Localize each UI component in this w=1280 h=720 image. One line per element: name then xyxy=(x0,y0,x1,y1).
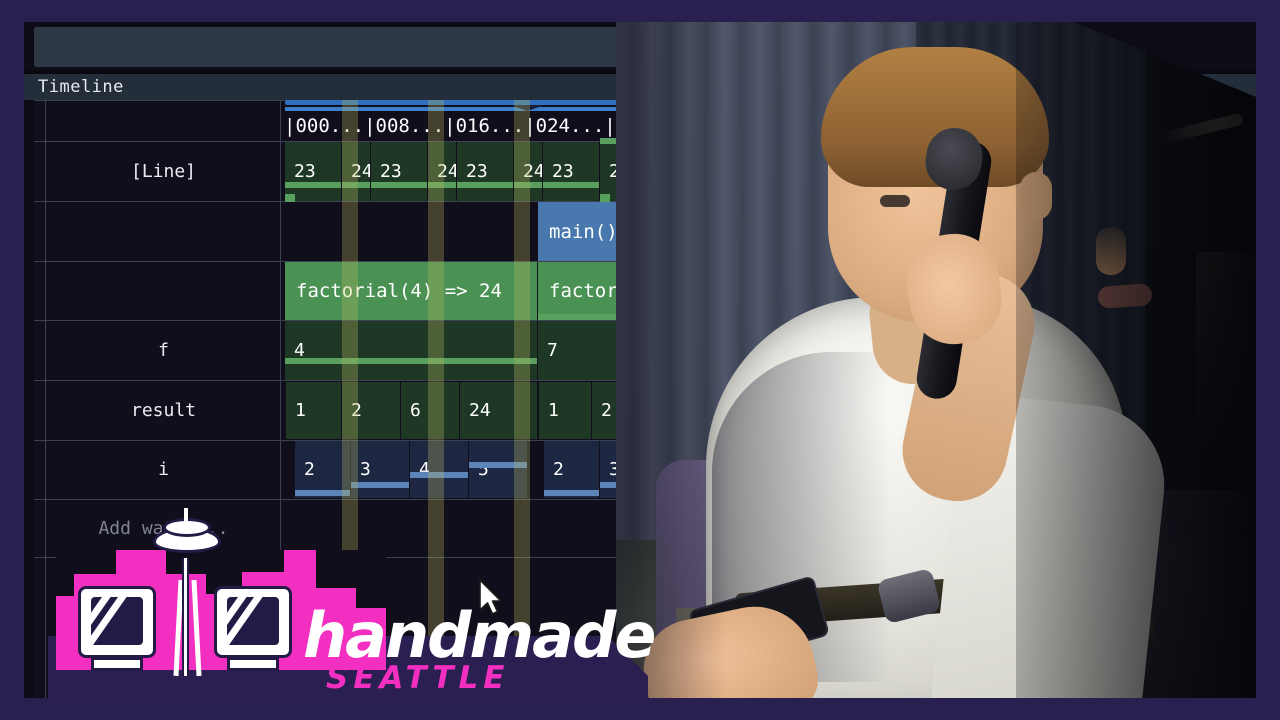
monitor-screen xyxy=(91,597,143,645)
i-cell[interactable]: 4 xyxy=(410,441,468,498)
handmade-seattle-logo: handmade SEATTLE xyxy=(48,508,648,698)
skyline-notch xyxy=(74,550,116,574)
needle-spire xyxy=(184,508,188,528)
line-cell[interactable]: 23 xyxy=(543,142,599,201)
f-cell[interactable]: 4 xyxy=(285,321,537,380)
i-cell[interactable]: 5 xyxy=(469,441,527,498)
line-cell[interactable]: 24 xyxy=(428,142,456,201)
monitor-icon-right xyxy=(214,586,292,658)
result-cell[interactable]: 1 xyxy=(286,382,341,439)
f-spark xyxy=(285,358,537,364)
debugger-window: Timeline [Line] f result i Add watch... xyxy=(24,22,1256,698)
line-spark-stub xyxy=(600,194,610,202)
i-cell[interactable]: 3 xyxy=(351,441,409,498)
line-cell[interactable]: 24 xyxy=(342,142,370,201)
screen: Timeline [Line] f result i Add watch... xyxy=(0,0,1280,720)
mouse-cursor xyxy=(478,578,504,618)
line-cell[interactable]: 24 xyxy=(514,142,542,201)
eye-left xyxy=(880,195,910,207)
row-label-f: f xyxy=(46,320,281,380)
needle-mast xyxy=(182,558,189,676)
logo-subtitle: SEATTLE xyxy=(326,660,509,696)
line-cell[interactable]: 23 xyxy=(457,142,513,201)
skyline-notch xyxy=(242,550,284,572)
row-label-line: [Line] xyxy=(46,141,281,201)
line-spark xyxy=(342,182,370,188)
line-spark xyxy=(514,182,542,188)
i-spark xyxy=(410,472,468,478)
line-spark xyxy=(371,182,427,188)
i-spark xyxy=(469,462,527,468)
row-label-result: result xyxy=(46,380,281,440)
skyline-notch xyxy=(316,550,386,588)
monitor-screen xyxy=(227,597,279,645)
gutter-column xyxy=(34,100,46,698)
monitor-stand xyxy=(91,657,143,671)
line-spark xyxy=(457,182,513,188)
callstack-factorial-complete[interactable]: factorial(4) => 24 xyxy=(285,262,537,320)
result-cell[interactable]: 1 xyxy=(539,382,591,439)
i-spark xyxy=(544,490,599,496)
i-spark xyxy=(351,482,409,488)
speaker-video xyxy=(616,22,1256,698)
result-cell[interactable]: 24 xyxy=(460,382,537,439)
monitor-icon-left xyxy=(78,586,156,658)
line-cell[interactable]: 23 xyxy=(371,142,427,201)
line-spark xyxy=(543,182,599,188)
line-spark xyxy=(428,182,456,188)
i-spark xyxy=(295,490,350,496)
video-vignette xyxy=(1016,22,1256,698)
monitor-stand xyxy=(227,657,279,671)
row-label-i: i xyxy=(46,440,281,499)
skyline-notch xyxy=(56,550,74,596)
result-cell[interactable]: 2 xyxy=(342,382,400,439)
panel-title: Timeline xyxy=(38,77,124,97)
line-spark-stub xyxy=(285,194,295,202)
line-spark xyxy=(285,182,341,188)
result-cell[interactable]: 6 xyxy=(401,382,459,439)
line-cell[interactable]: 23 xyxy=(285,142,341,201)
